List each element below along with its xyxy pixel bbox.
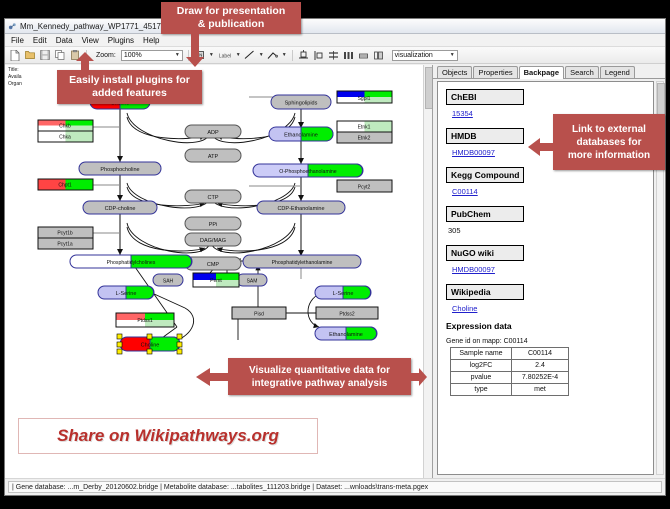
svg-text:Etnk1: Etnk1 xyxy=(358,125,371,131)
callout-plugins-arrow-up-icon xyxy=(76,52,94,74)
node-ptdss1: Ptdss1 xyxy=(116,313,174,327)
table-row: type met xyxy=(451,384,569,396)
stack-icon[interactable] xyxy=(328,49,340,61)
table-row: pvalue 7.80252E-4 xyxy=(451,372,569,384)
pathway-graphics: PtdEtn dashed + SAM/SAH --> xyxy=(5,65,433,479)
svg-text:Ptdss2: Ptdss2 xyxy=(339,312,355,318)
canvas-vertical-scrollbar[interactable] xyxy=(423,65,432,478)
callout-links-line1: Link to external xyxy=(568,123,650,136)
menu-bar: File Edit Data View Plugins Help xyxy=(5,34,665,47)
interaction-dropdown-icon[interactable]: ▼ xyxy=(282,52,287,58)
section-header-chebi: ChEBI xyxy=(446,89,524,105)
svg-text:SAM: SAM xyxy=(247,279,258,285)
node-dagmag: DAG/MAG xyxy=(185,233,241,246)
align-left-icon[interactable] xyxy=(313,49,325,61)
node-pcyt2: Pcyt2 xyxy=(337,180,392,192)
node-cmp: CMP xyxy=(185,257,241,270)
save-icon[interactable] xyxy=(39,49,51,61)
svg-text:CDP-Ethanolamine: CDP-Ethanolamine xyxy=(277,206,324,212)
section-header-hmdb: HMDB xyxy=(446,128,524,144)
label-dropdown-icon[interactable]: ▼ xyxy=(236,52,241,58)
node-chka: Chka xyxy=(38,131,93,142)
callout-plugins-line1: Easily install plugins for xyxy=(69,74,190,87)
node-ctp: CTP xyxy=(185,190,241,203)
menu-item-edit[interactable]: Edit xyxy=(33,36,47,45)
svg-text:Pisd: Pisd xyxy=(254,312,264,318)
node-cdp-ethanolamine: CDP-Ethanolamine xyxy=(257,201,345,214)
callout-draw: Draw for presentation & publication xyxy=(161,2,301,34)
svg-text:L-Serine: L-Serine xyxy=(333,291,354,297)
menu-item-view[interactable]: View xyxy=(82,36,99,45)
new-icon[interactable] xyxy=(9,49,21,61)
menu-item-help[interactable]: Help xyxy=(143,36,159,45)
node-o-phosphoethanolamine: O-Phosphoethanolamine xyxy=(253,164,363,177)
menu-item-file[interactable]: File xyxy=(11,36,24,45)
svg-text:Chka: Chka xyxy=(59,135,71,141)
svg-text:ADP: ADP xyxy=(207,130,219,136)
copy-icon[interactable] xyxy=(54,49,66,61)
row-value-log2fc: 2.4 xyxy=(512,360,569,372)
table-row: Sample name C00114 xyxy=(451,348,569,360)
svg-text:Label: Label xyxy=(219,53,231,59)
svg-text:Ptdss1: Ptdss1 xyxy=(137,318,153,324)
visualization-combo[interactable]: visualization ▼ xyxy=(392,50,458,61)
line-dropdown-icon[interactable]: ▼ xyxy=(259,52,264,58)
node-pcyt1b: Pcyt1b xyxy=(38,227,93,238)
group-icon[interactable] xyxy=(358,49,370,61)
svg-text:Sphingolipids: Sphingolipids xyxy=(285,101,318,107)
node-etnk2: Etnk2 xyxy=(337,132,392,143)
toolbar-separator-3 xyxy=(292,50,293,61)
share-banner-text: Share on Wikipathways.org xyxy=(57,426,279,446)
tab-properties[interactable]: Properties xyxy=(473,66,517,78)
callout-links-arrow-left-icon xyxy=(528,138,556,156)
svg-text:CDP-choline: CDP-choline xyxy=(105,206,136,212)
row-value-type: met xyxy=(512,384,569,396)
callout-visualize-line1: Visualize quantitative data for xyxy=(249,364,390,377)
svg-text:PPi: PPi xyxy=(209,222,218,228)
callout-draw-line1: Draw for presentation xyxy=(177,5,286,18)
node-sphingolipids: Sphingolipids xyxy=(271,95,331,109)
section-header-wikipedia: Wikipedia xyxy=(446,284,524,300)
value-pubchem: 305 xyxy=(448,226,653,235)
pathway-canvas[interactable]: Title: Availa Organ xyxy=(5,65,433,479)
callout-draw-arrow-down-icon xyxy=(186,33,204,68)
node-phosphocholine: Phosphocholine xyxy=(79,162,161,175)
interaction-icon[interactable] xyxy=(267,49,279,61)
main-toolbar: Zoom: 100% ▼ GN ▼ Label ▼ ▼ ▼ xyxy=(5,47,665,64)
screenshot-root: Mm_Kennedy_pathway_WP1771_45176.gpml Fil… xyxy=(0,0,670,509)
zoom-combo[interactable]: 100% ▼ xyxy=(121,50,183,61)
callout-visualize-arrow-right-icon xyxy=(409,368,427,386)
open-icon[interactable] xyxy=(24,49,36,61)
callout-draw-line2: & publication xyxy=(177,18,286,31)
node-ppi: PPi xyxy=(185,217,241,230)
svg-text:Sgpl1: Sgpl1 xyxy=(358,96,371,102)
node-phosphatidylethanolamine: Phosphatidylethanolamine xyxy=(243,255,361,268)
expression-data-table: Sample name C00114 log2FC 2.4 pvalue 7.8… xyxy=(450,347,569,396)
svg-text:O-Phosphoethanolamine: O-Phosphoethanolamine xyxy=(279,169,337,175)
node-choline-selected: Choline xyxy=(117,334,182,354)
node-atp: ATP xyxy=(185,149,241,162)
chevron-down-icon: ▼ xyxy=(175,52,180,58)
label-icon[interactable]: Label xyxy=(217,49,233,61)
svg-text:Ethanolamine: Ethanolamine xyxy=(329,332,363,338)
node-pemt: Pemt xyxy=(193,273,239,287)
svg-text:CMP: CMP xyxy=(207,262,220,268)
svg-text:Phosphatidylcholines: Phosphatidylcholines xyxy=(107,260,156,266)
row-key-type: type xyxy=(451,384,512,396)
node-sah: SAH xyxy=(153,274,183,286)
svg-text:L-Serine: L-Serine xyxy=(116,291,137,297)
distribute-icon[interactable] xyxy=(343,49,355,61)
svg-text:Pemt: Pemt xyxy=(210,278,222,284)
svg-text:DAG/MAG: DAG/MAG xyxy=(200,238,226,244)
tab-legend[interactable]: Legend xyxy=(600,66,635,78)
row-value-pvalue: 7.80252E-4 xyxy=(512,372,569,384)
line-icon[interactable] xyxy=(244,49,256,61)
node-sgpl1: Sgpl1 xyxy=(337,91,392,103)
node-chpt1: Chpt1 xyxy=(38,179,93,190)
callout-plugins-line2: added features xyxy=(69,87,190,100)
align-top-icon[interactable] xyxy=(298,49,310,61)
zoom-label: Zoom: xyxy=(96,52,116,59)
link-kegg[interactable]: C00114 xyxy=(452,187,653,196)
svg-text:Etnk2: Etnk2 xyxy=(358,136,371,142)
node-ethanolamine-bottom: Ethanolamine xyxy=(315,327,377,340)
tab-backpage[interactable]: Backpage xyxy=(519,66,564,79)
status-bar-inner: | Gene database: ...m_Derby_20120602.bri… xyxy=(8,481,662,493)
node-l-serine-left: L-Serine xyxy=(98,286,154,299)
svg-text:Pcyt1a: Pcyt1a xyxy=(57,242,73,248)
side-panel-tabs: Objects Properties Backpage Search Legen… xyxy=(433,65,665,79)
svg-text:SAH: SAH xyxy=(163,279,174,285)
status-bar: | Gene database: ...m_Derby_20120602.bri… xyxy=(5,478,665,495)
chevron-down-icon-2: ▼ xyxy=(450,52,455,58)
svg-text:ATP: ATP xyxy=(208,154,219,160)
row-key-sample-name: Sample name xyxy=(451,348,512,360)
node-pcyt1a: Pcyt1a xyxy=(38,238,93,249)
svg-text:Choline: Choline xyxy=(141,343,160,349)
row-key-log2fc: log2FC xyxy=(451,360,512,372)
svg-text:Chpt1: Chpt1 xyxy=(58,183,72,189)
app-icon xyxy=(8,22,17,31)
node-l-serine-right: L-Serine xyxy=(315,286,371,299)
callout-plugins: Easily install plugins for added feature… xyxy=(57,70,202,104)
node-ethanolamine: Ethanolamine xyxy=(269,127,333,141)
node-etnk1: Etnk1 xyxy=(337,121,392,132)
window-titlebar: Mm_Kennedy_pathway_WP1771_45176.gpml xyxy=(5,19,665,34)
svg-text:Phosphocholine: Phosphocholine xyxy=(100,167,139,173)
svg-text:Pcyt2: Pcyt2 xyxy=(358,185,371,191)
node-sam: SAM xyxy=(237,274,267,286)
menu-item-plugins[interactable]: Plugins xyxy=(108,36,134,45)
tab-objects[interactable]: Objects xyxy=(437,66,472,78)
zoom-value: 100% xyxy=(124,52,142,59)
node-ptdss2: Ptdss2 xyxy=(316,307,378,319)
svg-text:Ethanolamine: Ethanolamine xyxy=(284,133,318,139)
link-wikipedia[interactable]: Choline xyxy=(452,304,653,313)
share-banner: Share on Wikipathways.org xyxy=(18,418,318,454)
callout-links: Link to external databases for more info… xyxy=(553,114,665,170)
section-header-kegg: Kegg Compound xyxy=(446,167,524,183)
callout-visualize: Visualize quantitative data for integrat… xyxy=(228,358,411,395)
callout-visualize-line2: integrative pathway analysis xyxy=(249,377,390,390)
order-icon[interactable] xyxy=(373,49,385,61)
node-cdp-choline: CDP-choline xyxy=(83,201,157,214)
section-header-nugo: NuGO wiki xyxy=(446,245,524,261)
row-key-pvalue: pvalue xyxy=(451,372,512,384)
menu-item-data[interactable]: Data xyxy=(56,36,73,45)
expression-data-title: Expression data xyxy=(446,321,653,331)
row-value-sample-name: C00114 xyxy=(512,348,569,360)
datanode-dropdown-icon[interactable]: ▼ xyxy=(209,52,214,58)
node-adp: ADP xyxy=(185,125,241,138)
svg-text:Phosphatidylethanolamine: Phosphatidylethanolamine xyxy=(272,260,333,266)
gene-id-line: Gene id on mapp: C00114 xyxy=(446,338,653,345)
section-header-pubchem: PubChem xyxy=(446,206,524,222)
node-pisd: Pisd xyxy=(232,307,286,319)
svg-text:Pcyt1b: Pcyt1b xyxy=(57,231,73,237)
svg-text:Chkb: Chkb xyxy=(59,124,71,130)
node-chkb: Chkb xyxy=(38,120,93,131)
node-phosphatidylcholines: Phosphatidylcholines xyxy=(70,255,192,268)
tab-search[interactable]: Search xyxy=(565,66,599,78)
visualization-value: visualization xyxy=(395,52,433,59)
table-row: log2FC 2.4 xyxy=(451,360,569,372)
link-nugo[interactable]: HMDB00097 xyxy=(452,265,653,274)
svg-text:CTP: CTP xyxy=(208,195,219,201)
callout-links-line2: databases for xyxy=(568,136,650,149)
canvas-scroll-thumb[interactable] xyxy=(425,67,433,109)
callout-links-line3: more information xyxy=(568,149,650,162)
callout-visualize-arrow-left-icon xyxy=(196,368,230,386)
status-bar-text: | Gene database: ...m_Derby_20120602.bri… xyxy=(12,484,428,491)
